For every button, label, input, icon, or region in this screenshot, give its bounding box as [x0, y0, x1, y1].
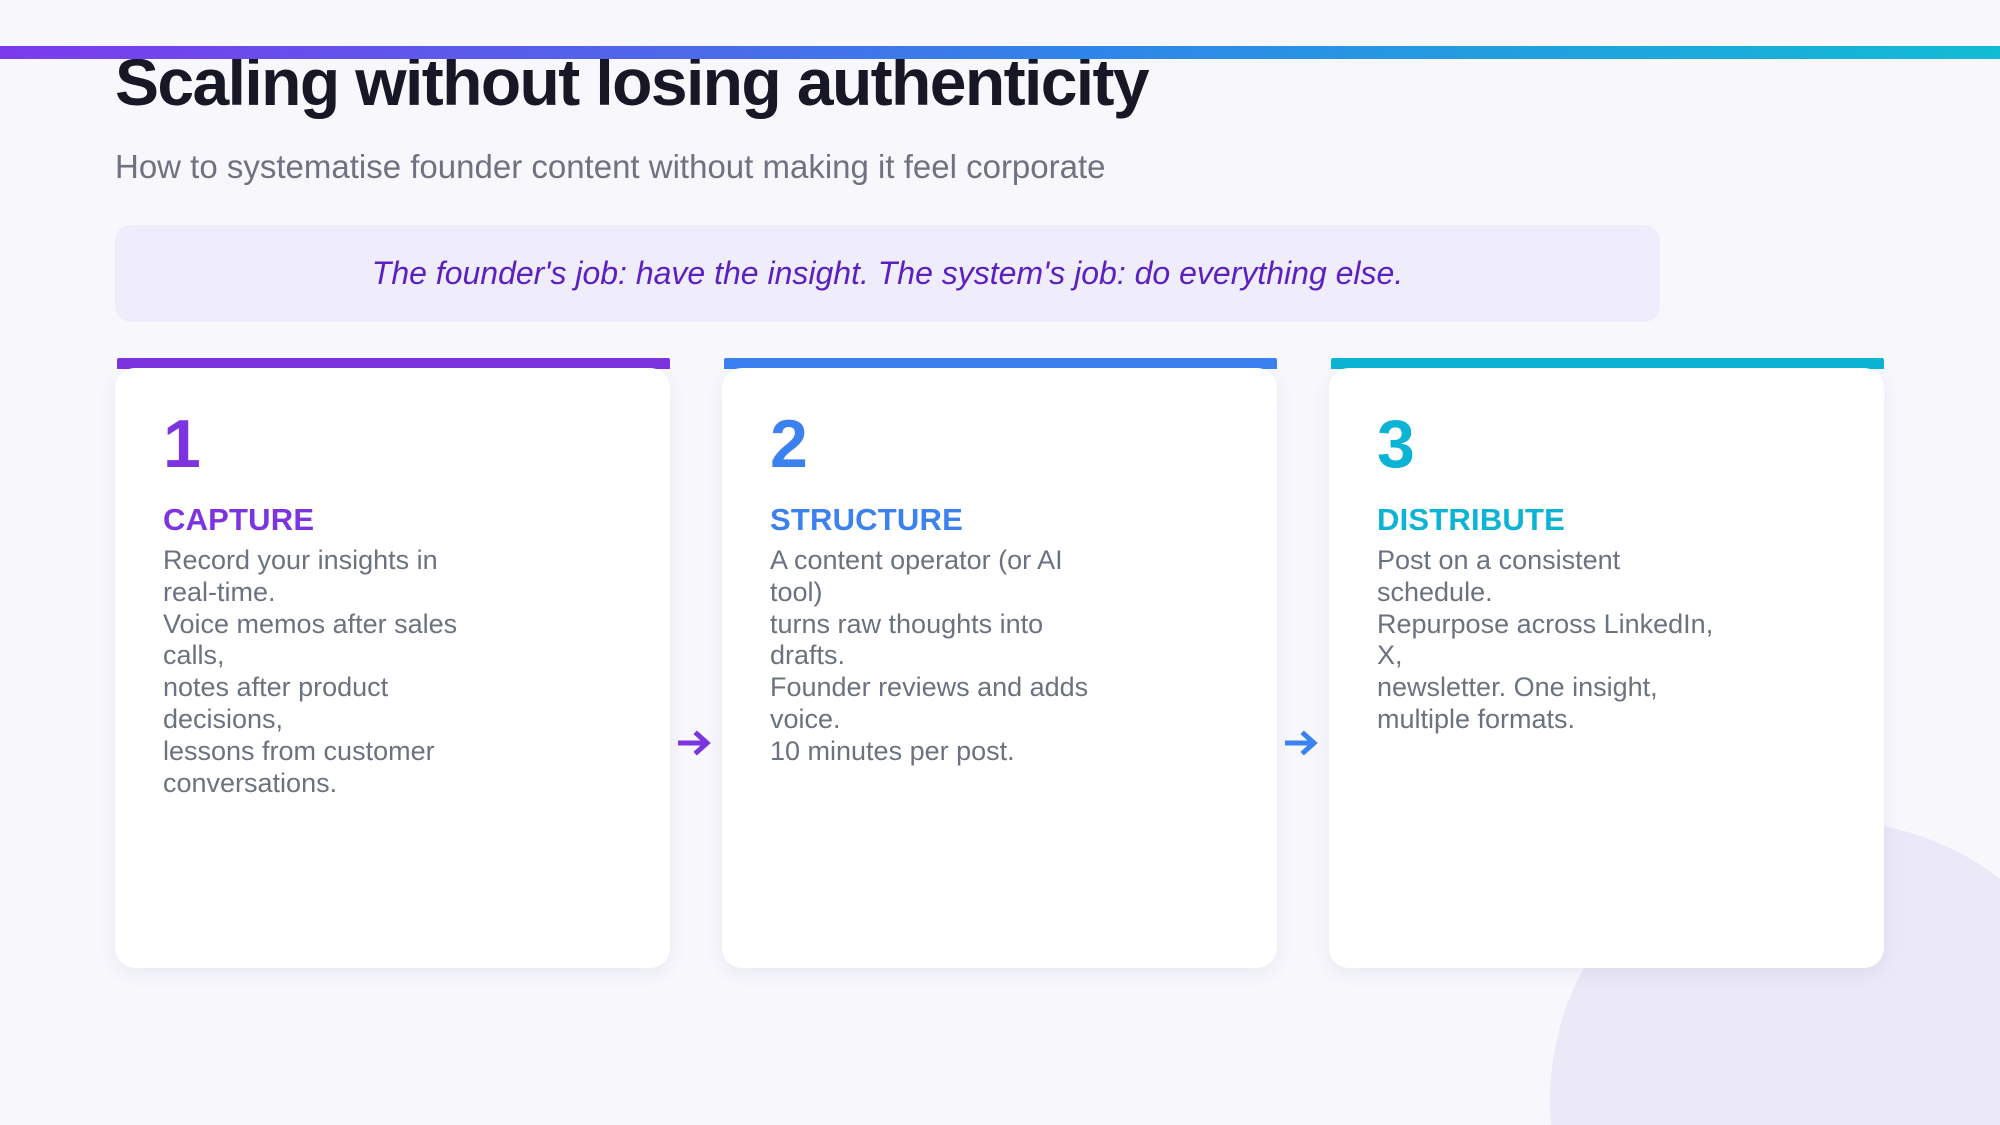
step-card-capture[interactable]: 1 CAPTURE Record your insights in real-t… — [115, 358, 670, 968]
connector-arrow-1 — [670, 358, 722, 958]
step-description: Post on a consistent schedule. Repurpose… — [1377, 545, 1836, 736]
arrow-right-icon — [678, 728, 714, 758]
step-number: 3 — [1377, 412, 1836, 477]
steps-row: 1 CAPTURE Record your insights in real-t… — [115, 358, 1885, 968]
page-subtitle: How to systematise founder content witho… — [115, 146, 1885, 187]
step-label: CAPTURE — [163, 503, 622, 537]
top-gradient-bar — [0, 46, 2000, 59]
step-description: A content operator (or AI tool) turns ra… — [770, 545, 1229, 768]
step-description: Record your insights in real-time. Voice… — [163, 545, 622, 800]
step-card-distribute[interactable]: 3 DISTRIBUTE Post on a consistent schedu… — [1329, 358, 1884, 968]
step-card-structure[interactable]: 2 STRUCTURE A content operator (or AI to… — [722, 358, 1277, 968]
quote-banner: The founder's job: have the insight. The… — [115, 225, 1660, 322]
step-card-body: 3 DISTRIBUTE Post on a consistent schedu… — [1329, 368, 1884, 968]
step-label: STRUCTURE — [770, 503, 1229, 537]
connector-arrow-2 — [1277, 358, 1329, 958]
quote-text: The founder's job: have the insight. The… — [372, 254, 1403, 292]
step-number: 2 — [770, 412, 1229, 477]
arrow-right-icon — [1285, 728, 1321, 758]
slide-content: Scaling without losing authenticity How … — [0, 46, 2000, 968]
step-number: 1 — [163, 412, 622, 477]
step-card-body: 1 CAPTURE Record your insights in real-t… — [115, 368, 670, 968]
step-label: DISTRIBUTE — [1377, 503, 1836, 537]
step-card-body: 2 STRUCTURE A content operator (or AI to… — [722, 368, 1277, 968]
